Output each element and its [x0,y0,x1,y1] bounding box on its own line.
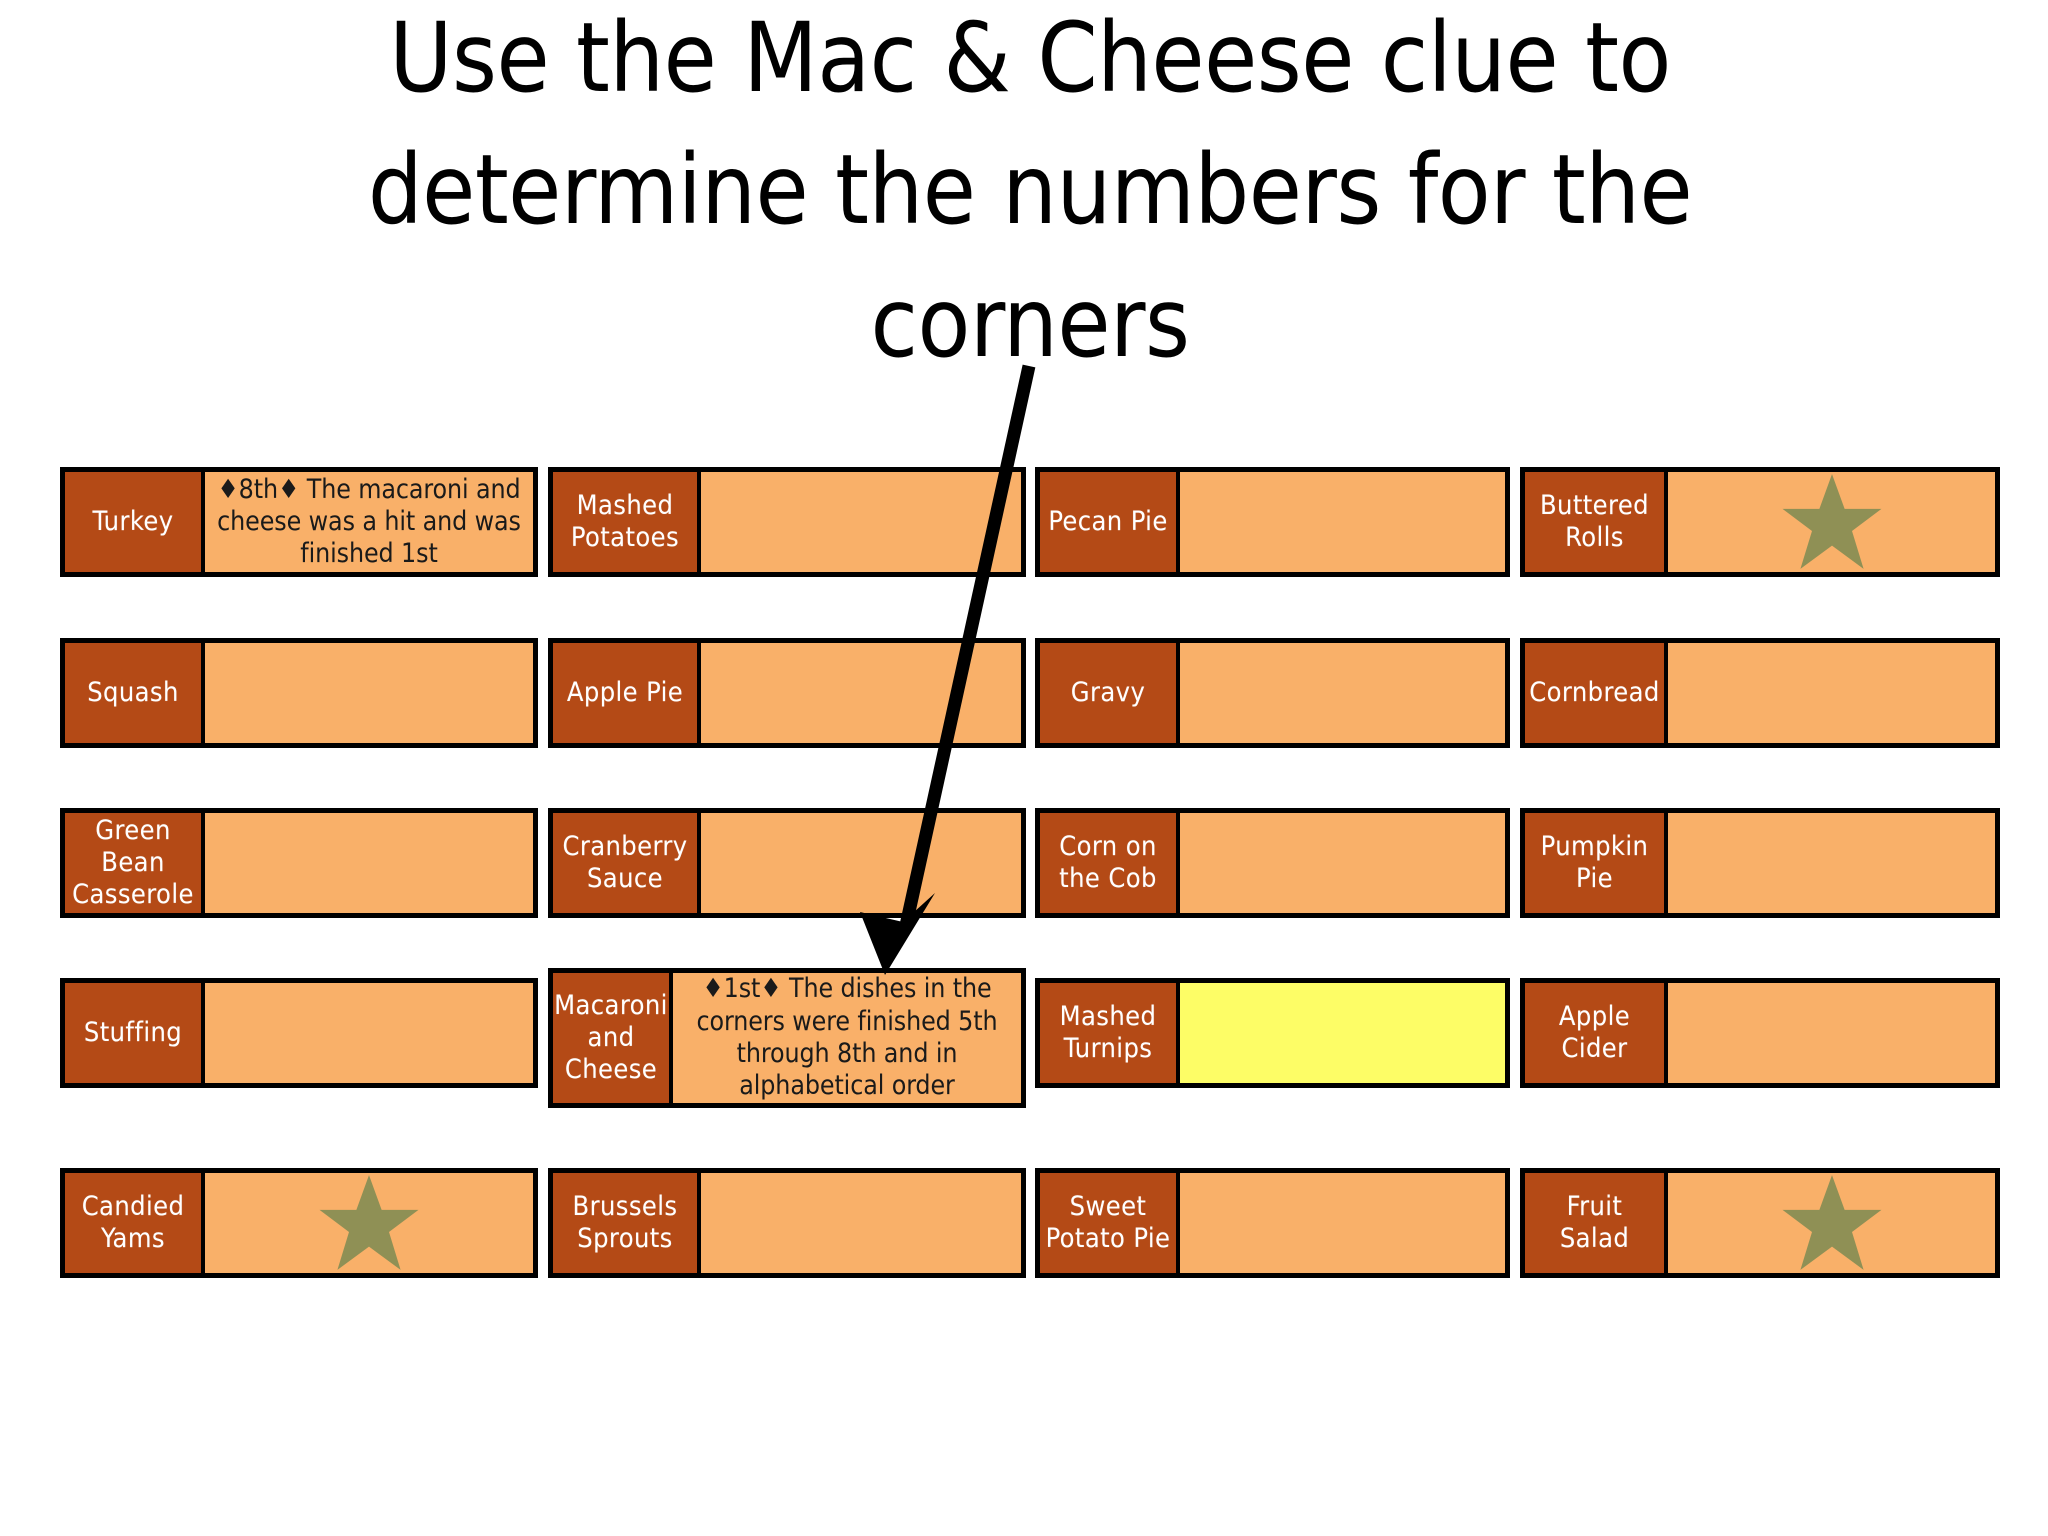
dish-answer-cell[interactable] [1180,643,1505,743]
dish-block[interactable]: Pecan Pie [1035,467,1510,577]
dish-label: Fruit Salad [1525,1173,1668,1273]
slide-canvas: Use the Mac & Cheese clue to determine t… [0,0,2048,1536]
dish-label: Sweet Potato Pie [1040,1173,1180,1273]
dish-label: Gravy [1040,643,1180,743]
dish-block[interactable]: Apple Cider [1520,978,2000,1088]
dish-label: Squash [65,643,205,743]
dish-label: Green Bean Casserole [65,813,205,913]
dish-label: Cranberry Sauce [553,813,701,913]
dish-answer-cell[interactable] [205,813,533,913]
dish-answer-cell[interactable] [701,1173,1021,1273]
dish-block[interactable]: Apple Pie [548,638,1026,748]
dish-block[interactable]: Brussels Sprouts [548,1168,1026,1278]
dish-block[interactable]: Pumpkin Pie [1520,808,2000,918]
dish-clue-text[interactable]: ♦1st♦ The dishes in the corners were fin… [673,973,1021,1103]
dish-star-cell[interactable] [1668,472,1995,572]
dish-label: Cornbread [1525,643,1668,743]
dish-star-cell[interactable] [1668,1173,1995,1273]
dish-block[interactable]: Green Bean Casserole [60,808,538,918]
dish-block[interactable]: Gravy [1035,638,1510,748]
star-icon [210,1175,528,1271]
dish-block[interactable]: Mashed Potatoes [548,467,1026,577]
dish-block[interactable]: Sweet Potato Pie [1035,1168,1510,1278]
dish-clue-text[interactable]: ♦8th♦ The macaroni and cheese was a hit … [205,472,533,572]
dish-answer-cell[interactable] [1668,643,1995,743]
dish-answer-cell[interactable] [701,472,1021,572]
dish-block[interactable]: Cornbread [1520,638,2000,748]
dish-answer-cell[interactable] [1668,983,1995,1083]
dish-block[interactable]: Stuffing [60,978,538,1088]
dish-label: Apple Pie [553,643,701,743]
dish-label: Corn on the Cob [1040,813,1180,913]
dish-block[interactable]: Turkey♦8th♦ The macaroni and cheese was … [60,467,538,577]
dish-block[interactable]: Corn on the Cob [1035,808,1510,918]
dish-block[interactable]: Candied Yams [60,1168,538,1278]
dish-block[interactable]: Buttered Rolls [1520,467,2000,577]
dish-label: Stuffing [65,983,205,1083]
dish-answer-cell[interactable] [701,813,1021,913]
dish-answer-cell[interactable] [1180,813,1505,913]
dish-answer-cell[interactable] [1668,813,1995,913]
dish-star-cell[interactable] [205,1173,533,1273]
dish-label: Candied Yams [65,1173,205,1273]
dish-label: Mashed Turnips [1040,983,1180,1083]
dish-answer-cell[interactable] [205,643,533,743]
star-icon [1673,1175,1990,1271]
dish-label: Buttered Rolls [1525,472,1668,572]
dish-answer-cell[interactable] [1180,1173,1505,1273]
dish-label: Brussels Sprouts [553,1173,701,1273]
dish-label: Macaroni and Cheese [553,973,673,1103]
dish-label: Turkey [65,472,205,572]
dish-answer-cell[interactable] [1180,472,1505,572]
dish-grid: Turkey♦8th♦ The macaroni and cheese was … [0,0,2048,1536]
dish-answer-cell[interactable] [1180,983,1505,1083]
dish-label: Pecan Pie [1040,472,1180,572]
dish-block[interactable]: Mashed Turnips [1035,978,1510,1088]
star-icon [1673,474,1990,570]
dish-block[interactable]: Macaroni and Cheese♦1st♦ The dishes in t… [548,968,1026,1108]
dish-block[interactable]: Cranberry Sauce [548,808,1026,918]
dish-answer-cell[interactable] [205,983,533,1083]
dish-label: Apple Cider [1525,983,1668,1083]
dish-label: Pumpkin Pie [1525,813,1668,913]
dish-block[interactable]: Squash [60,638,538,748]
dish-label: Mashed Potatoes [553,472,701,572]
dish-answer-cell[interactable] [701,643,1021,743]
dish-block[interactable]: Fruit Salad [1520,1168,2000,1278]
